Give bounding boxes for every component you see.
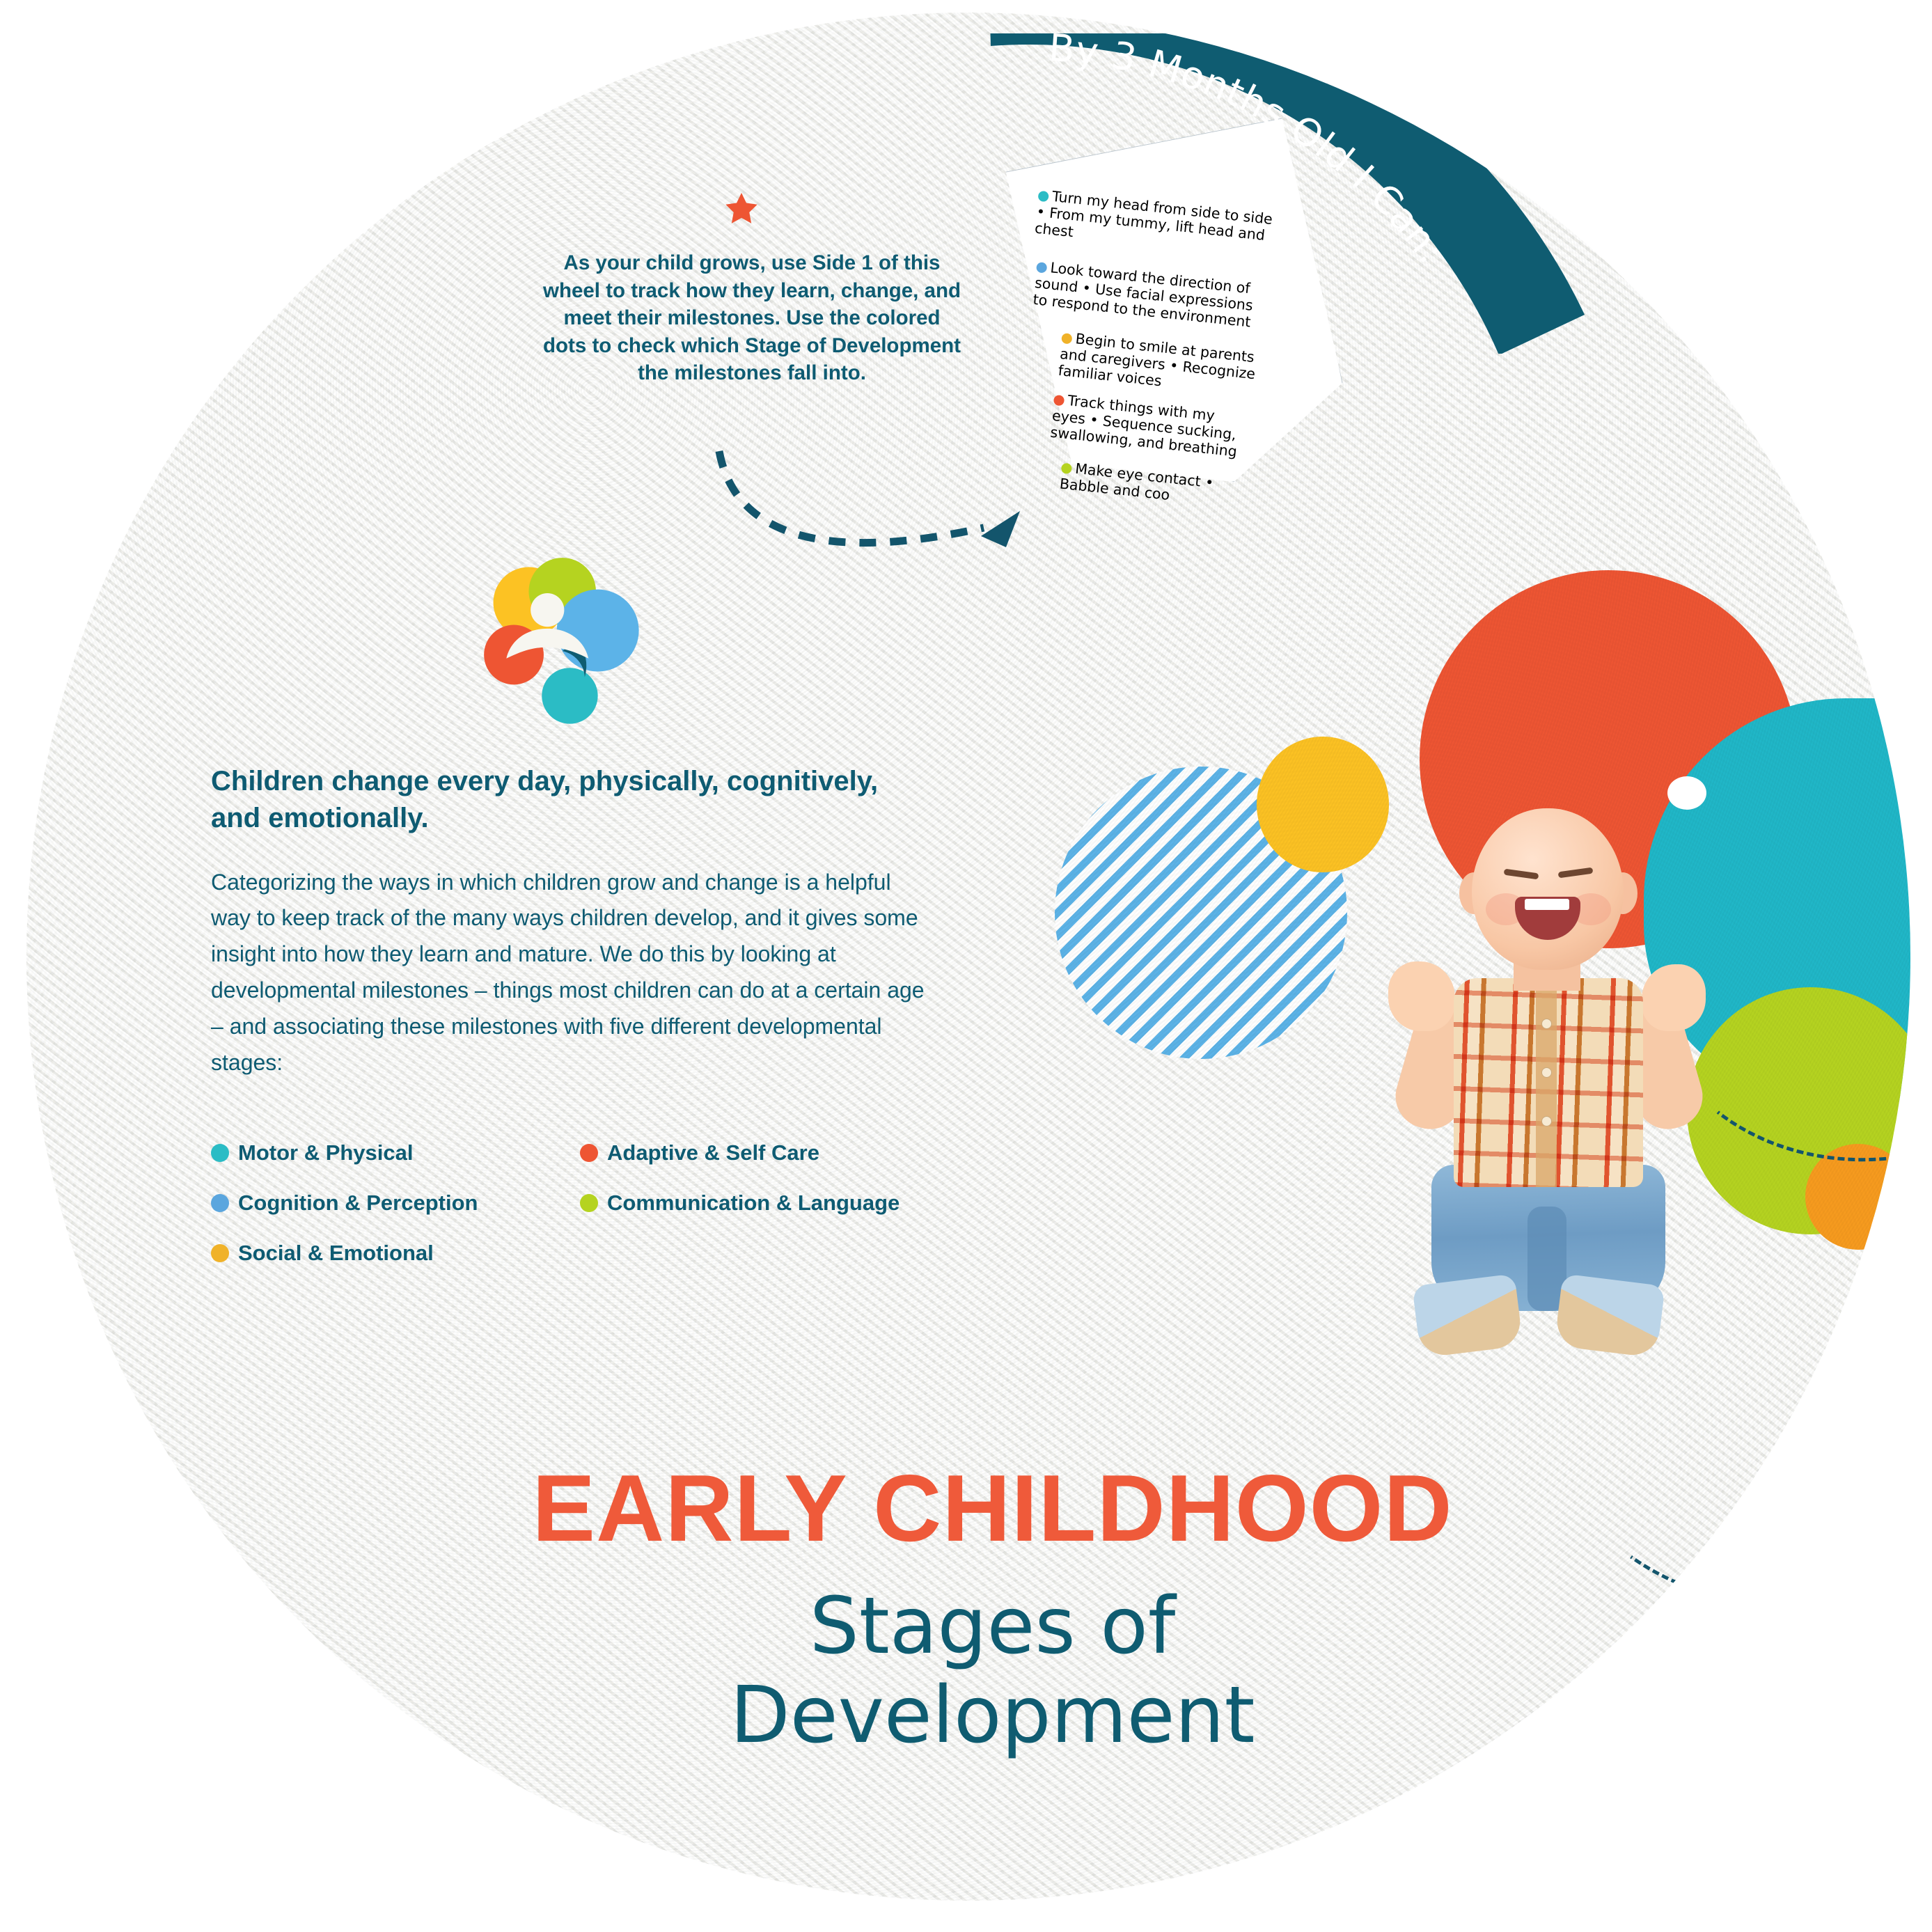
- legend-item-social-emotional[interactable]: Social & Emotional: [211, 1241, 580, 1266]
- communication-language-dot: [1061, 463, 1072, 474]
- page-title-secondary: Stages of Development: [26, 1582, 1910, 1760]
- list-item: Track things with my eyes • Sequence suc…: [1049, 391, 1248, 461]
- legend-item-communication-language[interactable]: Communication & Language: [580, 1191, 949, 1216]
- cognition-perception-dot: [211, 1194, 229, 1212]
- copy-heading: Children change every day, physically, c…: [211, 763, 928, 837]
- page-title-line3: Development: [26, 1672, 1910, 1761]
- legend-label: Cognition & Perception: [238, 1191, 478, 1216]
- communication-language-dot: [580, 1194, 598, 1212]
- adaptive-self-care-dot: [1053, 395, 1065, 406]
- legend-item-cognition-perception[interactable]: Cognition & Perception: [211, 1191, 580, 1216]
- development-wheel: As your child grows, use Side 1 of this …: [26, 13, 1910, 1901]
- smiling-baby-photo: [1349, 789, 1739, 1381]
- legend-item-motor-physical[interactable]: Motor & Physical: [211, 1140, 580, 1165]
- milestone-banner: By 3 Months Old I Can:: [987, 33, 1586, 354]
- motor-physical-dot: [211, 1144, 229, 1162]
- social-emotional-dot: [211, 1244, 229, 1262]
- legend-label: Social & Emotional: [238, 1241, 434, 1266]
- page-title-line2: Stages of: [26, 1582, 1910, 1672]
- instruction-text: As your child grows, use Side 1 of this …: [543, 249, 961, 387]
- body-copy: Children change every day, physically, c…: [211, 763, 928, 1081]
- legend-label: Communication & Language: [607, 1191, 900, 1216]
- page-title-primary: EARLY CHILDHOOD: [26, 1461, 1910, 1555]
- curved-dashed-arrow-icon: [705, 444, 1032, 590]
- child-figure-logo: [462, 545, 648, 735]
- star-icon: [723, 190, 760, 228]
- stages-legend: Motor & Physical Adaptive & Self Care Co…: [211, 1140, 949, 1266]
- legend-item-adaptive-self-care[interactable]: Adaptive & Self Care: [580, 1140, 949, 1165]
- copy-paragraph: Categorizing the ways in which children …: [211, 865, 928, 1081]
- legend-label: Motor & Physical: [238, 1140, 414, 1165]
- legend-label: Adaptive & Self Care: [607, 1140, 819, 1165]
- adaptive-self-care-dot: [580, 1144, 598, 1162]
